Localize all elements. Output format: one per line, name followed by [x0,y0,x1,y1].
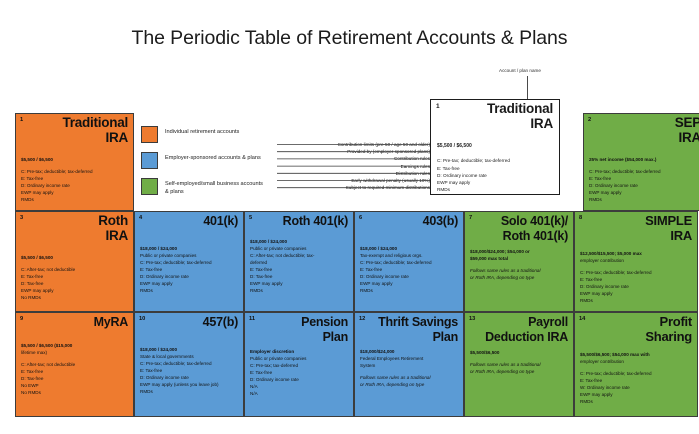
cell-body-line: Follows same rules as a traditional [470,267,569,274]
cell-body-line: E: Tax-free [580,377,693,384]
cell-name: SIMPLEIRA [645,214,692,243]
cell-body-line: E: Tax-free [250,369,349,376]
cell-body-line: $18,000/$24,000 [360,348,459,355]
cell-body-line: Public or private companies [250,245,349,252]
cell-body-line: D: Tax-free [21,280,129,287]
cell-name: PensionPlan [301,315,348,344]
cell-body-line: RMDs [250,287,349,294]
cell-name: ProfitSharing [645,315,692,344]
cell-body-line: RMDs [589,196,699,203]
cell-number: 8 [579,215,582,221]
cell-body-line: D: Ordinary income rate [250,376,349,383]
cell-body-line: $5,500/$6,500; $54,000 max with [580,351,693,358]
cell-name-line: Plan [301,330,348,345]
cell-name: PayrollDeduction IRA [485,315,568,344]
cell-body-line: E: Tax-free [21,175,129,182]
cell-name: RothIRA [98,214,128,243]
cell-body-line: Follows same rules as a traditional [470,361,569,368]
cell-body: $5,500 / $6,500C: After-tax; not deducti… [21,254,129,301]
cell-name-line: Sharing [645,330,692,345]
cell-body-line: RMDs [140,388,239,395]
cell-body: $18,000 / $24,000State & local governmen… [140,346,239,395]
cell-body-line: Tax-exempt and religious orgs. [360,252,459,259]
cell-body-line: $5,500 / $6,500 ($15,000 [21,342,129,349]
cell-body-line: deferred [250,259,349,266]
grid-spacer [253,113,363,211]
cell-number: 10 [139,316,145,322]
cell-body-line: E: Tax-free [140,367,239,374]
cell-name-line: IRA [675,131,699,146]
cell-9-myra[interactable]: 9MyRA$5,500 / $6,500 ($15,000lifetime ma… [15,312,134,417]
cell-body: $5,500/$6,500; $54,000 max withemployer … [580,351,693,405]
cell-body-line: No RMDs [21,389,129,396]
page-title: The Periodic Table of Retirement Account… [0,27,699,50]
cell-body-line: D: Tax-free [21,375,129,382]
cell-number: 11 [249,316,255,322]
cell-name-line: SEP [675,116,699,131]
cell-body-line: RMDs [360,287,459,294]
cell-body-line: or Roth IRA, depending on type [470,274,569,281]
cell-body-line: 25% net income ($54,000 max.) [589,156,699,163]
cell-number: 7 [469,215,472,221]
cell-body-line: $5,500 / $6,500 [21,254,129,261]
cell-body-line: E: Tax-free [140,266,239,273]
cell-body-line: C: Pre-tax; deductible; tax-deferred [140,360,239,367]
cell-body-line: $12,500/$15,500; $5,000 max [580,250,693,257]
cell-name: MyRA [94,315,128,329]
cell-body-line: E: Tax-free [589,175,699,182]
cell-number: 9 [20,316,23,322]
cell-body-line: E: Tax-free [21,273,129,280]
periodic-table-grid: 1TraditionalIRA$5,500 / $6,500C: Pre-tax… [15,113,699,417]
cell-body-line: $18,000 / $24,000 [250,238,349,245]
cell-body-line: E: Tax-free [580,276,693,283]
cell-body: $5,500 / $6,500C: Pre-tax; deductible; t… [21,156,129,203]
cell-13-payroll-deduction-ira[interactable]: 13PayrollDeduction IRA$5,500/$6,500Follo… [464,312,574,417]
cell-3-roth-ira[interactable]: 3RothIRA$5,500 / $6,500C: After-tax; not… [15,211,134,312]
cell-body-line: D: Ordinary income rate [21,182,129,189]
example-cell-number: 1 [436,103,440,110]
cell-name-line: MyRA [94,315,128,329]
cell-body-line: D: Tax-free [250,273,349,280]
grid-row-2: 3RothIRA$5,500 / $6,500C: After-tax; not… [15,211,699,312]
cell-5-roth-401k[interactable]: 5Roth 401(k)$18,000 / $24,000Public or p… [244,211,354,312]
cell-body-line: State & local governments [140,353,239,360]
cell-name: SEPIRA [675,116,699,145]
cell-body-line: or Roth IRA, depending on type [360,381,459,388]
cell-body-line: $5,500/$6,500 [470,349,569,356]
cell-body-line: E: Tax-free [360,266,459,273]
cell-body-line: C: After-tax; not deductible [21,361,129,368]
cell-body-line: C: Pre-tax; deductible; tax-deferred [589,168,699,175]
cell-body-line: $18,000 / $24,000 [140,346,239,353]
cell-body-line: RMDs [580,297,693,304]
cell-body-line: RMDs [21,196,129,203]
cell-body: $18,000/$24,000; $54,000 or$59,000 max t… [470,248,569,281]
cell-body-line: E: Tax-free [21,368,129,375]
cell-name-line: 401(k) [203,214,238,228]
cell-number: 14 [579,316,585,322]
cell-name: 401(k) [203,214,238,228]
cell-body-line: Federal Employees Retirement [360,355,459,362]
cell-2-sep-ira[interactable]: 2SEPIRA25% net income ($54,000 max.)C: P… [583,113,699,211]
cell-body-line: $59,000 max total [470,255,569,262]
cell-name-line: Thrift Savings [378,315,458,330]
cell-body: $5,500/$6,500Follows same rules as a tra… [470,349,569,375]
cell-body-line: RMDs [580,398,693,405]
cell-body-line: or Roth IRA, depending on type [470,368,569,375]
cell-12-thrift-savings-plan[interactable]: 12Thrift SavingsPlan$18,000/$24,000Feder… [354,312,464,417]
cell-11-pension-plan[interactable]: 11PensionPlanEmployer discretionPublic o… [244,312,354,417]
cell-2-sep-ira-slot: 2SEPIRA25% net income ($54,000 max.)C: P… [583,113,699,211]
cell-body-line: EWP may apply [140,280,239,287]
cell-body-line: D: Ordinary income rate [360,273,459,280]
cell-body-line: $18,000/$24,000; $54,000 or [470,248,569,255]
cell-name-line: Profit [645,315,692,330]
cell-body-line: EWP may apply [360,280,459,287]
cell-body-line: EWP may apply [21,287,129,294]
cell-name-line: Deduction IRA [485,330,568,345]
cell-body: $12,500/$15,500; $5,000 maxemployer cont… [580,250,693,304]
cell-body: $18,000/$24,000Federal Employees Retirem… [360,348,459,388]
cell-name-line: Pension [301,315,348,330]
cell-body-line: No RMDs [21,294,129,301]
cell-name: 457(b) [203,315,238,329]
cell-7-solo-401k[interactable]: 7Solo 401(k)/Roth 401(k)$18,000/$24,000;… [464,211,574,312]
cell-body-line: EWP may apply (unless you leave job) [140,381,239,388]
cell-body-line: EWP may apply [21,189,129,196]
cell-name-line: Plan [378,330,458,345]
cell-body-line: EWP may apply [580,290,693,297]
cell-body-line: RMDs [140,287,239,294]
cell-number: 13 [469,316,475,322]
grid-row-1: 1TraditionalIRA$5,500 / $6,500C: Pre-tax… [15,113,699,211]
cell-4-401k[interactable]: 4401(k)$18,000 / $24,000Public or privat… [134,211,244,312]
cell-body-line: C: After-tax; not deductible [21,266,129,273]
cell-8-simple-ira[interactable]: 8SIMPLEIRA$12,500/$15,500; $5,000 maxemp… [574,211,698,312]
grid-row-3: 9MyRA$5,500 / $6,500 ($15,000lifetime ma… [15,312,699,417]
cell-name-line: Roth 401(k) [501,229,568,244]
cell-body-line: No EWP [21,382,129,389]
cell-body-line: C: Pre-tax; deductible; tax-deferred [580,370,693,377]
cell-body-line: D: Ordinary income rate [589,182,699,189]
cell-body-line: C: After-tax; not deductible; tax- [250,252,349,259]
cell-number: 12 [359,316,365,322]
cell-name-line: Traditional [62,116,128,131]
grid-spacer [473,113,583,211]
cell-body-line: Follows same rules as a traditional [360,374,459,381]
cell-body-line: E: Tax-free [250,266,349,273]
cell-number: 1 [20,117,23,123]
cell-number: 4 [139,215,142,221]
cell-body-line: employer contribution [580,358,693,365]
cell-6-403b[interactable]: 6403(b)$18,000 / $24,000Tax-exempt and r… [354,211,464,312]
grid-spacer [134,113,253,211]
cell-body-line: EWP may apply [250,280,349,287]
cell-body: $5,500 / $6,500 ($15,000lifetime max)C: … [21,342,129,396]
cell-body-line: C: Pre-tax; deductible; tax-deferred [140,259,239,266]
cell-number: 5 [249,215,252,221]
cell-body-line: C: Pre-tax; tax-deferred [250,362,349,369]
cell-body-line: W: Ordinary income rate [580,384,693,391]
cell-body-line: $18,000 / $24,000 [140,245,239,252]
cell-body-line: C: Pre-tax; deductible; tax-deferred [580,269,693,276]
cell-body-line: N/A [250,390,349,397]
cell-body-line: System [360,362,459,369]
cell-body-line: EWP may apply [580,391,693,398]
cell-number: 6 [359,215,362,221]
cell-body-line: employer contribution [580,257,693,264]
cell-1-traditional-ira[interactable]: 1TraditionalIRA$5,500 / $6,500C: Pre-tax… [15,113,134,211]
cell-body: Employer discretionPublic or private com… [250,348,349,397]
cell-name-line: Solo 401(k)/ [501,214,568,229]
cell-body: $18,000 / $24,000Public or private compa… [250,238,349,294]
grid-spacer [363,113,473,211]
cell-body-line: C: Pre-tax; deductible; tax-deferred [360,259,459,266]
cell-body-line: Employer discretion [250,348,349,355]
cell-name-line: IRA [645,229,692,244]
cell-body-line: $18,000 / $24,000 [360,245,459,252]
cell-name-line: IRA [62,131,128,146]
cell-name-line: 403(b) [423,214,458,228]
cell-body-line: lifetime max) [21,349,129,356]
cell-number: 2 [588,117,591,123]
cell-name: Thrift SavingsPlan [378,315,458,344]
cell-body-line: N/A [250,383,349,390]
callout-account-name-label: Account / plan name [499,68,541,73]
cell-body-line: $5,500 / $6,500 [21,156,129,163]
cell-name-line: IRA [98,229,128,244]
cell-14-profit-sharing[interactable]: 14ProfitSharing$5,500/$6,500; $54,000 ma… [574,312,698,417]
cell-body-line: D: Ordinary income rate [140,374,239,381]
cell-body-line: C: Pre-tax; deductible; tax-deferred [21,168,129,175]
cell-name-line: Roth [98,214,128,229]
cell-name-line: SIMPLE [645,214,692,229]
cell-body-line: D: Ordinary income rate [580,283,693,290]
cell-name-line: 457(b) [203,315,238,329]
cell-body-line: D: Ordinary income rate [140,273,239,280]
cell-name: 403(b) [423,214,458,228]
cell-name: Roth 401(k) [283,214,348,228]
callout-leader-line [527,76,528,100]
cell-body: $18,000 / $24,000Tax-exempt and religiou… [360,245,459,294]
cell-body-line: Public or private companies [250,355,349,362]
cell-name-line: Payroll [485,315,568,330]
cell-name: TraditionalIRA [62,116,128,145]
cell-number: 3 [20,215,23,221]
cell-body-line: Public or private companies [140,252,239,259]
cell-10-457b[interactable]: 10457(b)$18,000 / $24,000State & local g… [134,312,244,417]
cell-name-line: Roth 401(k) [283,214,348,228]
cell-body: $18,000 / $24,000Public or private compa… [140,245,239,294]
cell-body: 25% net income ($54,000 max.)C: Pre-tax;… [589,156,699,203]
cell-body-line: EWP may apply [589,189,699,196]
cell-name: Solo 401(k)/Roth 401(k) [501,214,568,243]
